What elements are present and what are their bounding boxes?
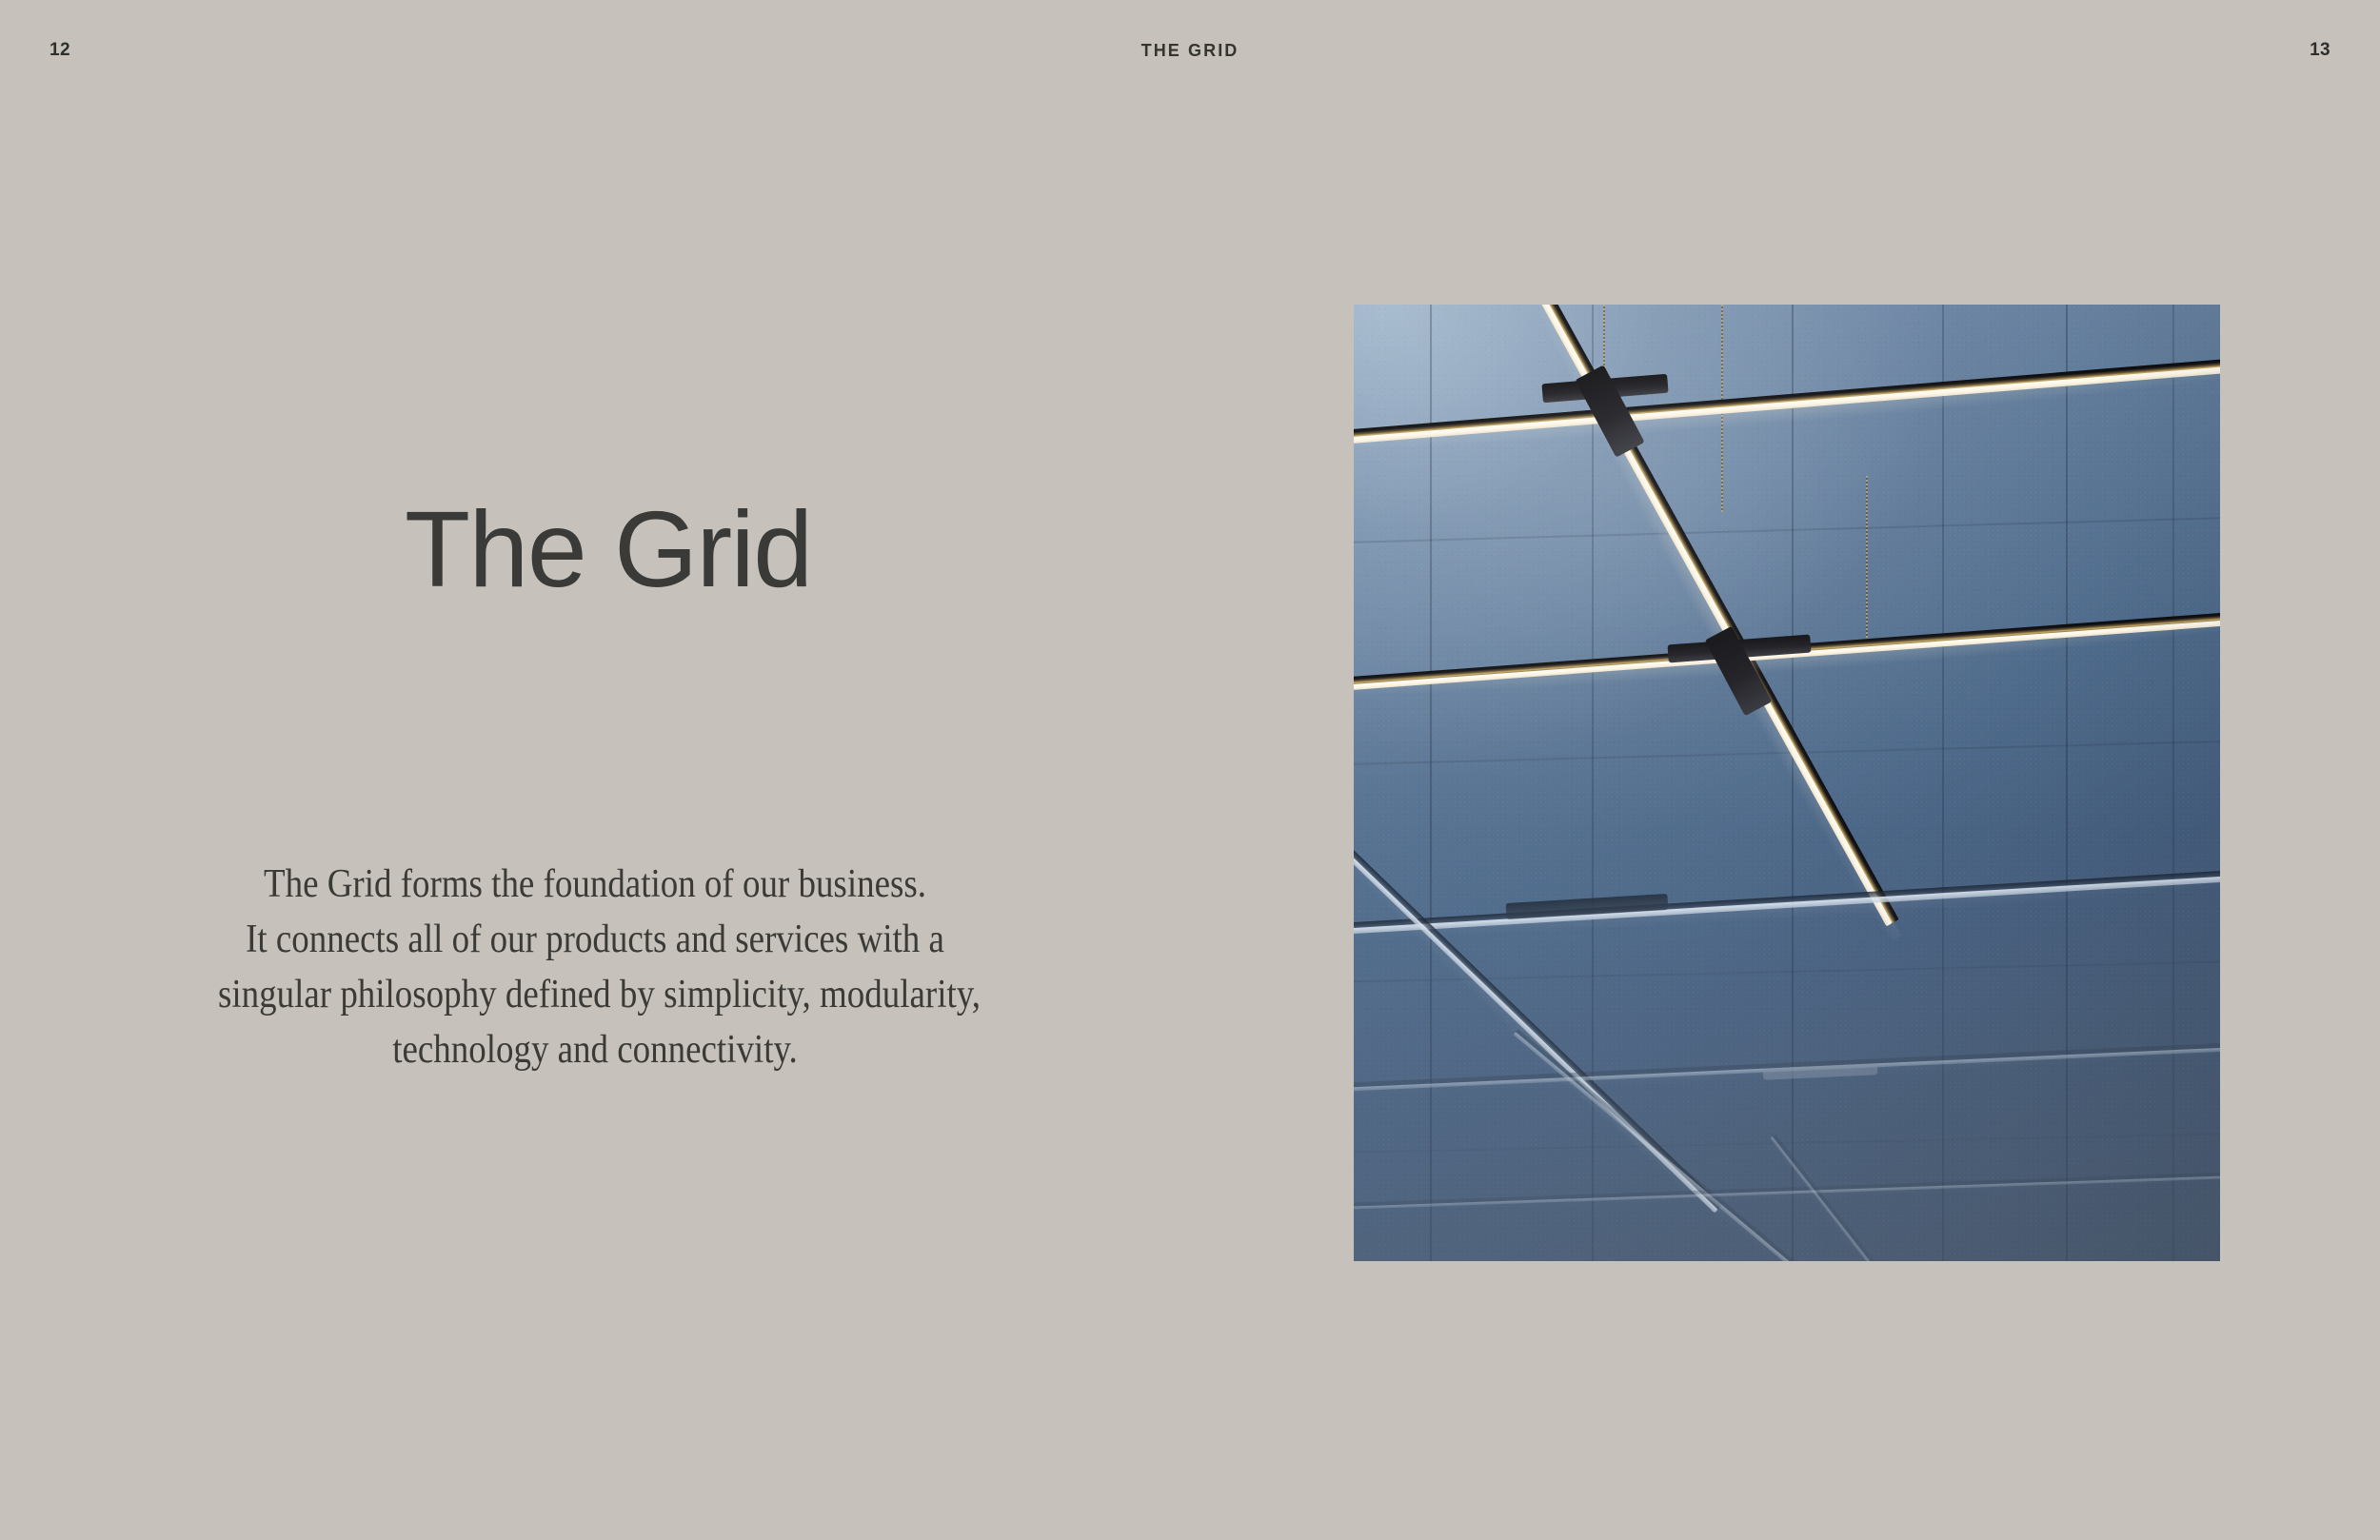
page-spread: 12 THE GRID 13 The Grid The Grid forms t… xyxy=(0,0,2380,1540)
body-line: technology and connectivity. xyxy=(218,1022,972,1077)
left-page: The Grid The Grid forms the foundation o… xyxy=(0,0,1190,1540)
ceiling-grid-photograph xyxy=(1354,305,2220,1261)
panel-seam-vertical xyxy=(2066,305,2068,1261)
suspension-cable xyxy=(1866,476,1868,638)
panel-seam-vertical xyxy=(1942,305,1944,1261)
body-line: singular philosophy defined by simplicit… xyxy=(218,967,972,1022)
page-title: The Grid xyxy=(405,493,812,606)
folio-right: 13 xyxy=(2310,38,2330,63)
panel-seam-vertical xyxy=(1430,305,1432,1261)
body-line: The Grid forms the foundation of our bus… xyxy=(218,857,972,912)
panel-seam-vertical xyxy=(1792,305,1794,1261)
ceiling-texture xyxy=(1354,305,2220,1261)
body-copy: The Grid forms the foundation of our bus… xyxy=(218,857,972,1077)
panel-seam-vertical xyxy=(2172,305,2174,1261)
panel-seam-vertical xyxy=(1592,305,1594,1261)
body-line: It connects all of our products and serv… xyxy=(218,912,972,967)
